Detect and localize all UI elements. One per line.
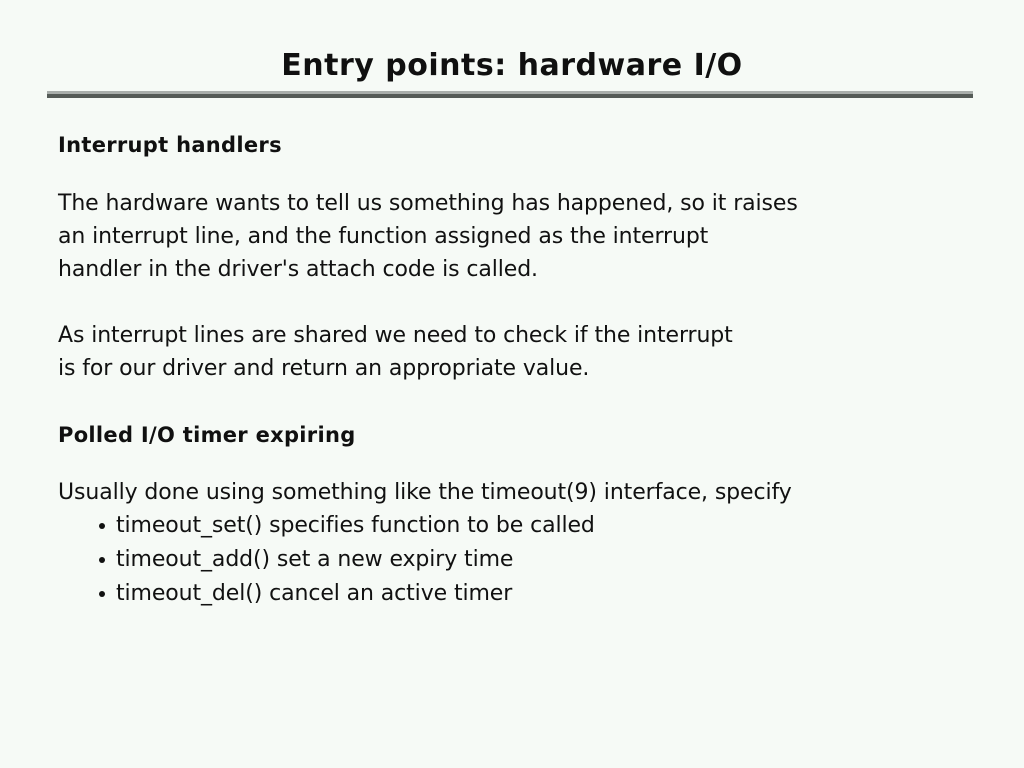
presentation-slide: Entry points: hardware I/O Interrupt han… [0,0,1024,768]
paragraph-line: Usually done using something like the ti… [58,476,978,509]
slide-body: Interrupt handlers The hardware wants to… [58,131,978,611]
list-item: timeout_add() set a new expiry time [99,543,978,577]
list-item: timeout_set() specifies function to be c… [99,509,978,543]
paragraph-line: an interrupt line, and the function assi… [58,220,978,253]
paragraph-shared-lines: As interrupt lines are shared we need to… [58,319,978,385]
divider-shadow [47,94,973,98]
paragraph-line: handler in the driver's attach code is c… [58,253,978,286]
bullet-dot-icon [99,591,105,597]
paragraph-line: is for our driver and return an appropri… [58,352,978,385]
list-item-label: timeout_set() specifies function to be c… [116,513,595,538]
spacer [58,449,978,476]
section-heading-polled-io-timer: Polled I/O timer expiring [58,421,978,449]
spacer [58,385,978,421]
paragraph-timeout-intro: Usually done using something like the ti… [58,476,978,509]
list-item-label: timeout_add() set a new expiry time [116,547,513,572]
paragraph-interrupt-description: The hardware wants to tell us something … [58,187,978,286]
list-item-label: timeout_del() cancel an active timer [116,581,512,606]
timeout-function-list: timeout_set() specifies function to be c… [58,509,978,611]
spacer [58,159,978,187]
section-heading-interrupt-handlers: Interrupt handlers [58,131,978,159]
spacer [58,286,978,319]
list-item: timeout_del() cancel an active timer [99,577,978,611]
bullet-dot-icon [99,557,105,563]
bullet-dot-icon [99,523,105,529]
title-divider-rule [47,91,973,98]
slide-title: Entry points: hardware I/O [0,48,1024,84]
paragraph-line: As interrupt lines are shared we need to… [58,319,978,352]
paragraph-line: The hardware wants to tell us something … [58,187,978,220]
